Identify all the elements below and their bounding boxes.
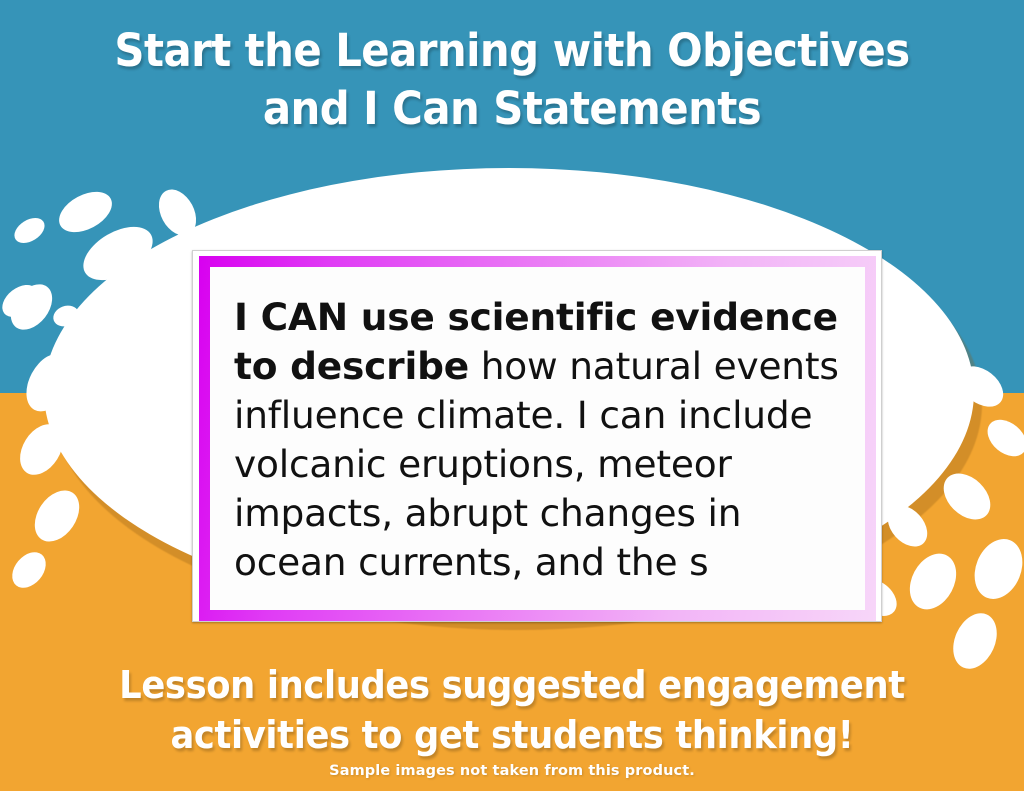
page-title-line1: Start the Learning with Objectives: [36, 22, 988, 80]
page-title: Start the Learning with Objectives and I…: [36, 22, 988, 138]
splatter-ellipse: [10, 213, 49, 248]
splatter-ellipse: [52, 184, 118, 241]
i-can-statement: I CAN use scientific evidence to describ…: [234, 293, 843, 587]
page-subtitle-line2: activities to get students thinking!: [36, 710, 988, 760]
card-gradient-border: I CAN use scientific evidence to describ…: [199, 256, 876, 621]
page-subtitle: Lesson includes suggested engagement act…: [36, 660, 988, 760]
sample-image-card: I CAN use scientific evidence to describ…: [192, 250, 882, 622]
slide-canvas: I CAN use scientific evidence to describ…: [0, 0, 1024, 791]
page-title-line2: and I Can Statements: [36, 80, 988, 138]
page-subtitle-line1: Lesson includes suggested engagement: [36, 660, 988, 710]
splatter-ellipse: [2, 276, 60, 337]
card-inner-panel: I CAN use scientific evidence to describ…: [210, 267, 865, 610]
footnote-text: Sample images not taken from this produc…: [0, 763, 1024, 779]
